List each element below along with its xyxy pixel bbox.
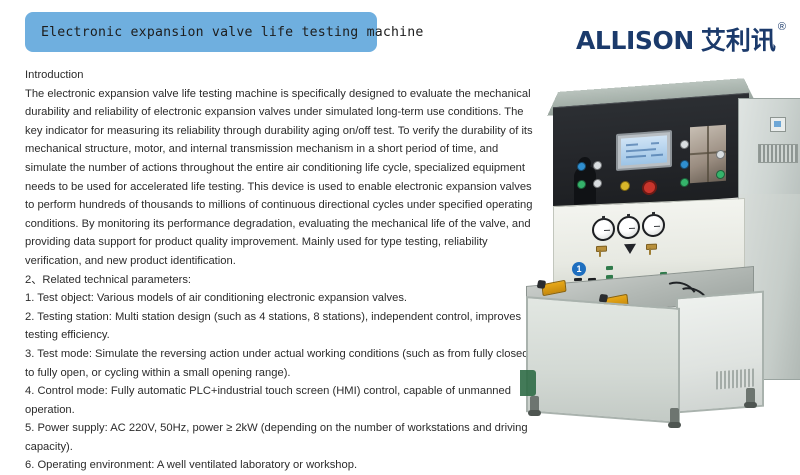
machine-base-front-panel	[526, 296, 680, 424]
leveling-foot	[530, 396, 539, 412]
station-badge-1: 1	[572, 262, 586, 276]
intro-paragraph: The electronic expansion valve life test…	[25, 85, 537, 271]
base-vent-grille-icon	[716, 369, 754, 390]
product-photo: 1 2	[520, 70, 800, 450]
page-title: Electronic expansion valve life testing …	[25, 25, 424, 40]
hmi-screen-display	[621, 135, 667, 165]
parameter-item: 5. Power supply: AC 220V, 50Hz, power ≥ …	[25, 419, 537, 456]
section-heading-introduction: Introduction	[25, 66, 537, 85]
green-terminal-block	[606, 266, 613, 270]
side-fixture	[520, 370, 536, 396]
black-cone-nozzle	[624, 244, 636, 255]
parameter-item: 1. Test object: Various models of air co…	[25, 289, 537, 308]
parameter-item: 4. Control mode: Fully automatic PLC+ind…	[25, 382, 537, 419]
testing-machine-illustration: 1 2	[520, 70, 800, 450]
parameter-item: 3. Test mode: Simulate the reversing act…	[25, 345, 537, 382]
cabinet-control-box	[770, 117, 786, 132]
cabinet-vent-grille-icon	[758, 144, 798, 163]
hmi-touch-screen	[616, 130, 672, 171]
parameter-item: 2. Testing station: Multi station design…	[25, 308, 537, 345]
product-page: Electronic expansion valve life testing …	[0, 0, 800, 450]
brand-name-en: ALLISON	[576, 28, 694, 53]
description-block: Introduction The electronic expansion va…	[25, 66, 537, 475]
brand-name-cn: 艾利讯	[701, 28, 776, 53]
page-title-banner: Electronic expansion valve life testing …	[25, 12, 377, 52]
brand-logo: ALLISON 艾利讯 ®	[576, 28, 786, 53]
registered-trademark-icon: ®	[778, 22, 786, 33]
parameter-item: 6. Operating environment: A well ventila…	[25, 456, 537, 475]
section-heading-parameters: 2、Related technical parameters:	[25, 271, 537, 290]
leveling-foot	[670, 408, 679, 424]
leveling-foot	[746, 388, 755, 404]
